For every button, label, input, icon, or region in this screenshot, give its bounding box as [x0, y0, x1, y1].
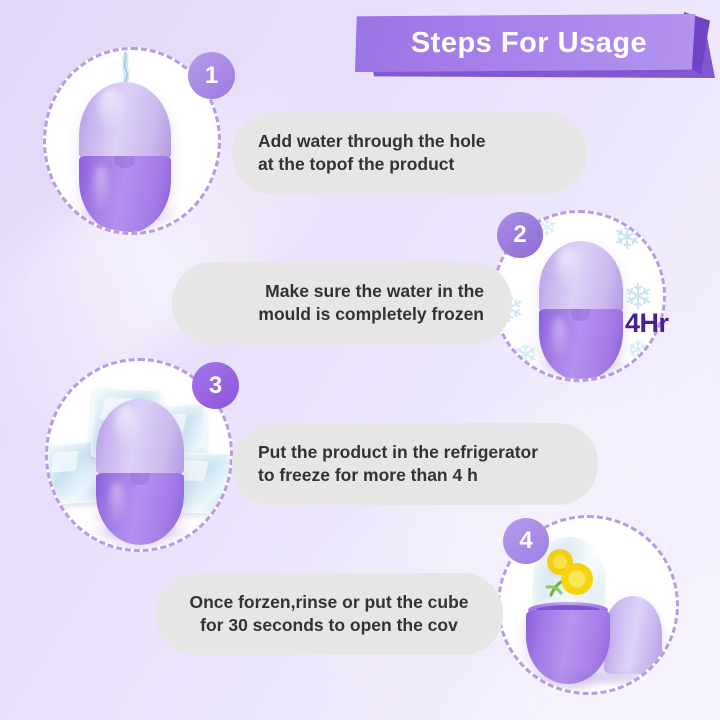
step-badge-1: 1 [188, 52, 235, 99]
product-capsule [96, 399, 184, 545]
step-4-text-pill: Once forzen,rinse or put the cube for 30… [155, 573, 503, 655]
step-2-text-pill: Make sure the water in the mould is comp… [172, 262, 512, 344]
capsule-drop-shadow [522, 670, 654, 686]
usage-steps-infographic: Steps For Usage 1 Add water through the … [0, 0, 720, 720]
step-1-text-pill: Add water through the hole at the topof … [232, 112, 587, 194]
product-capsule [79, 82, 171, 232]
step-3-text: Put the product in the refrigerator to f… [258, 441, 538, 488]
step-1-text: Add water through the hole at the topof … [258, 130, 486, 177]
snowflake-icon: ❄ [613, 221, 642, 255]
step-number: 1 [205, 62, 218, 90]
step-number: 3 [209, 372, 222, 400]
step-badge-2: 2 [497, 212, 543, 258]
freeze-duration-label: 4Hr [625, 308, 669, 339]
page-title-banner: Steps For Usage [355, 14, 705, 70]
detached-capsule-cap [604, 596, 662, 674]
step-2-text: Make sure the water in the mould is comp… [258, 280, 484, 327]
snowflake-icon: ❄ [627, 337, 649, 363]
step-number: 2 [513, 221, 526, 249]
step-badge-3: 3 [192, 362, 239, 409]
step-badge-4: 4 [503, 518, 549, 564]
step-4-text: Once forzen,rinse or put the cube for 30… [189, 591, 468, 638]
banner-face: Steps For Usage [355, 14, 697, 72]
capsule-cap [79, 82, 171, 160]
step-3-text-pill: Put the product in the refrigerator to f… [232, 423, 598, 505]
product-capsule [539, 241, 623, 379]
page-title: Steps For Usage [411, 27, 647, 60]
capsule-cap [539, 241, 623, 313]
step-number: 4 [519, 527, 532, 555]
